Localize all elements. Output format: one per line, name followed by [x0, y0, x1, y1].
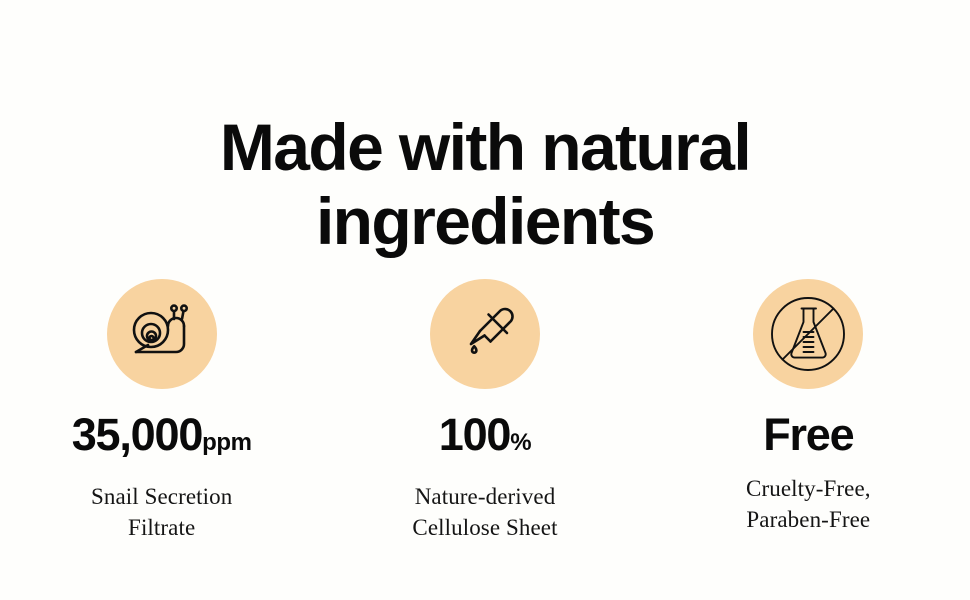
no-chemicals-flask-icon [765, 291, 851, 377]
caption-line-2: Cellulose Sheet [412, 512, 557, 543]
caption-line-1: Snail Secretion [91, 481, 232, 512]
stat-value-cellulose: 100% [439, 411, 531, 467]
page-title: Made with natural ingredients [0, 110, 970, 258]
stat-value-snail: 35,000ppm [72, 411, 252, 467]
stat-suffix: ppm [202, 419, 251, 467]
stat-value-free: Free [763, 411, 853, 459]
caption-snail: Snail Secretion Filtrate [91, 481, 232, 543]
feature-columns: 35,000ppm Snail Secretion Filtrate [0, 279, 970, 543]
ingredients-infographic: Made with natural ingredients [0, 0, 970, 600]
stat-number: Free [763, 411, 853, 459]
stat-number: 35,000 [72, 411, 202, 459]
caption-line-1: Nature-derived [412, 481, 557, 512]
feature-column-free: Free Cruelty-Free, Paraben-Free [647, 279, 970, 535]
snail-icon [126, 298, 198, 370]
page-title-line-2: ingredients [0, 184, 970, 258]
caption-line-1: Cruelty-Free, [746, 473, 871, 504]
feature-column-snail: 35,000ppm Snail Secretion Filtrate [0, 279, 323, 543]
stat-suffix: % [510, 419, 531, 467]
caption-free: Cruelty-Free, Paraben-Free [746, 473, 871, 535]
dropper-icon-badge [430, 279, 540, 389]
caption-cellulose: Nature-derived Cellulose Sheet [412, 481, 557, 543]
stat-number: 100 [439, 411, 510, 459]
no-chemicals-flask-icon-badge [753, 279, 863, 389]
caption-line-2: Filtrate [91, 512, 232, 543]
page-title-line-1: Made with natural [0, 110, 970, 184]
dropper-icon [449, 298, 521, 370]
snail-icon-badge [107, 279, 217, 389]
feature-column-cellulose: 100% Nature-derived Cellulose Sheet [323, 279, 646, 543]
caption-line-2: Paraben-Free [746, 504, 871, 535]
